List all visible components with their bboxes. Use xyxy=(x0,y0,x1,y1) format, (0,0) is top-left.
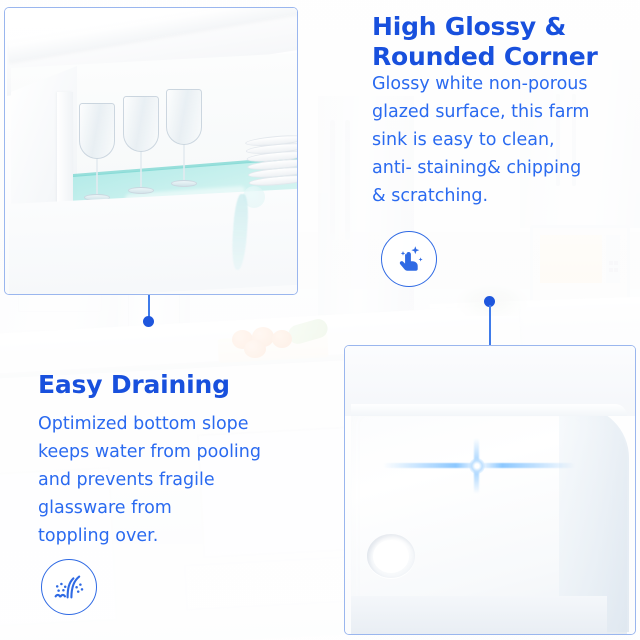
wine-glass xyxy=(166,89,202,187)
sparkle-core xyxy=(469,458,485,474)
heading-line: Easy Draining xyxy=(38,370,230,399)
body-line: Optimized bottom slope xyxy=(38,410,310,438)
body-line: & scratching. xyxy=(372,182,638,210)
body-line: glassware from xyxy=(38,494,310,522)
wine-glass xyxy=(123,96,159,194)
wine-glass xyxy=(79,103,115,201)
infographic-canvas: High Glossy & Rounded Corner Glossy whit… xyxy=(0,0,640,640)
feature-heading-easy-draining: Easy Draining xyxy=(38,369,278,401)
body-line: keeps water from pooling xyxy=(38,438,310,466)
feature-body-easy-draining: Optimized bottom slope keeps water from … xyxy=(38,410,310,550)
heading-line: Rounded Corner xyxy=(372,42,598,71)
drain-hole-inner xyxy=(373,540,409,573)
heading-line: High Glossy & xyxy=(372,12,566,41)
body-line: anti- staining& chipping xyxy=(372,154,638,182)
glossy-scene xyxy=(345,346,635,634)
sink-scene xyxy=(5,8,297,294)
glossy-sink-corner-photo xyxy=(344,345,636,635)
plate-stack xyxy=(245,133,298,190)
body-line: toppling over. xyxy=(38,522,310,550)
feature-heading-high-glossy: High Glossy & Rounded Corner xyxy=(372,12,634,72)
water-drain-icon xyxy=(41,559,97,615)
body-line: sink is easy to clean, xyxy=(372,126,638,154)
connector-dot-easy-draining xyxy=(143,316,154,327)
body-line: and prevents fragile xyxy=(38,466,310,494)
feature-body-high-glossy: Glossy white non-porous glazed surface, … xyxy=(372,70,638,210)
body-line: glazed surface, this farm xyxy=(372,98,638,126)
connector-line-high-glossy xyxy=(489,305,491,347)
sparkle-touch-icon xyxy=(381,231,437,287)
sink-bottom-edge xyxy=(351,596,607,634)
sink-rim xyxy=(351,404,627,416)
body-line: Glossy white non-porous xyxy=(372,70,638,98)
sink-cross-section-photo xyxy=(4,7,298,295)
